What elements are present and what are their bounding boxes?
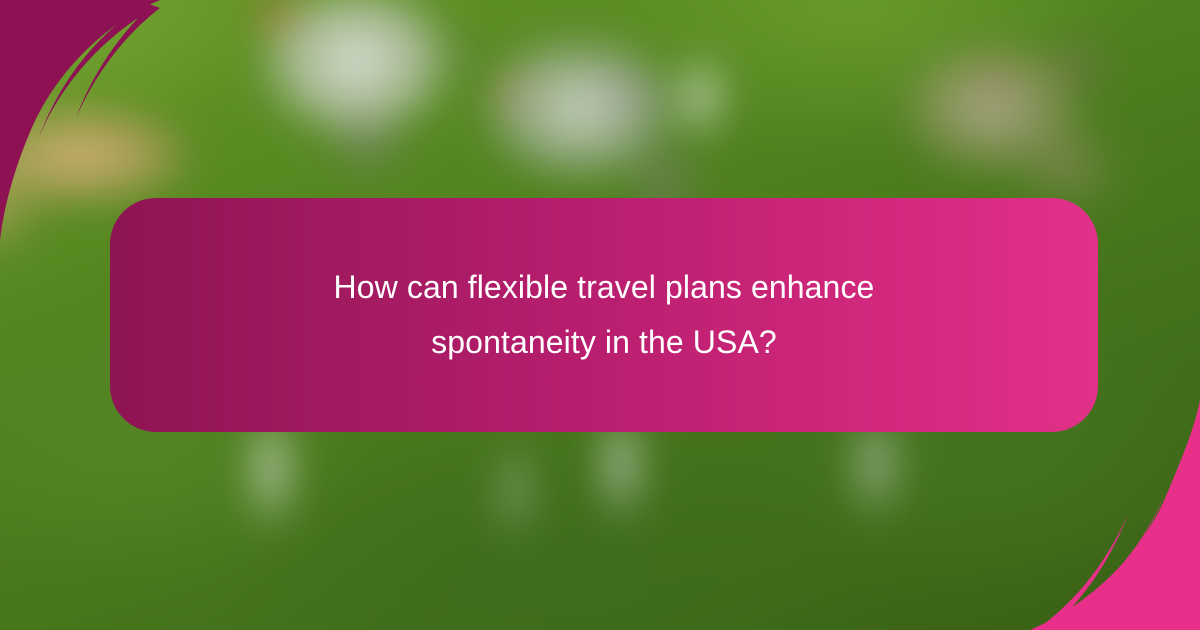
question-card: How can flexible travel plans enhance sp…	[110, 198, 1098, 432]
question-text: How can flexible travel plans enhance sp…	[254, 260, 954, 370]
share-card-poster: How can flexible travel plans enhance sp…	[0, 0, 1200, 630]
